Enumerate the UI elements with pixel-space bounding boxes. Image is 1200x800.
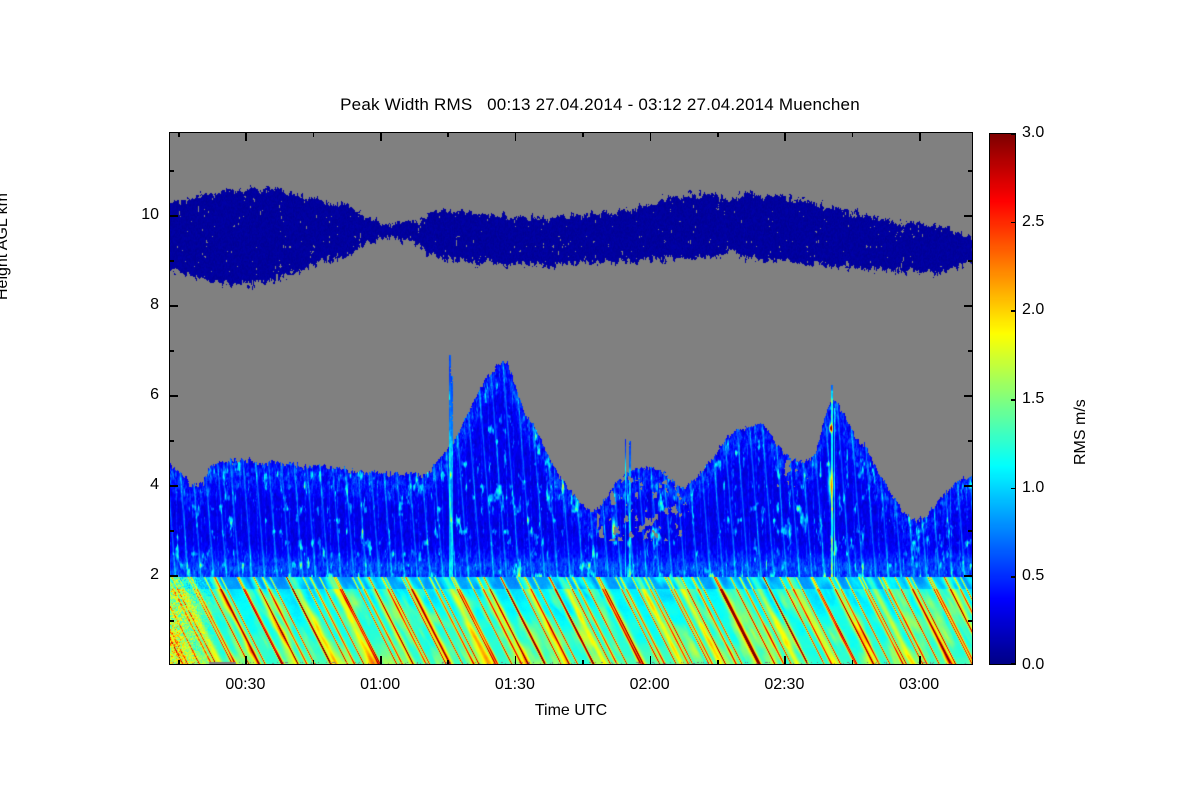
y-tick-label: 10 (119, 206, 159, 224)
x-minor-tick-bottom (582, 660, 584, 665)
y-minor-tick-right (968, 170, 973, 172)
x-minor-tick-bottom (852, 660, 854, 665)
x-minor-tick-bottom (313, 660, 315, 665)
x-minor-tick-top (717, 132, 719, 137)
colorbar-tick-label: 2.5 (1022, 213, 1044, 231)
y-minor-tick-left (169, 350, 174, 352)
y-tick-8 (169, 305, 178, 307)
x-tick-label: 01:30 (475, 676, 555, 694)
colorbar-tick (1011, 488, 1016, 490)
heatmap-canvas (170, 133, 973, 665)
x-minor-tick-top (178, 132, 180, 137)
colorbar-tick (1011, 222, 1016, 224)
colorbar-tick (1011, 133, 1016, 135)
colorbar-tick (1011, 310, 1016, 312)
x-minor-tick-top (582, 132, 584, 137)
y-tick-label: 6 (119, 386, 159, 404)
x-tick-label: 01:00 (340, 676, 420, 694)
x-tick-01:00 (380, 656, 382, 665)
y-tick-right-10 (964, 215, 973, 217)
x-axis-title: Time UTC (169, 702, 973, 720)
y-minor-tick-left (169, 260, 174, 262)
x-tick-top-00:30 (245, 132, 247, 141)
page-title: Peak Width RMS 00:13 27.04.2014 - 03:12 … (0, 95, 1200, 115)
y-tick-label: 8 (119, 296, 159, 314)
x-tick-top-02:30 (784, 132, 786, 141)
y-tick-4 (169, 485, 178, 487)
y-minor-tick-right (968, 350, 973, 352)
x-minor-tick-top (852, 132, 854, 137)
x-minor-tick-top (313, 132, 315, 137)
y-tick-right-2 (964, 575, 973, 577)
colorbar-tick (1011, 663, 1016, 665)
y-tick-10 (169, 215, 178, 217)
x-minor-tick-bottom (717, 660, 719, 665)
y-tick-2 (169, 575, 178, 577)
y-minor-tick-left (169, 440, 174, 442)
x-minor-tick-bottom (447, 660, 449, 665)
y-minor-tick-right (968, 620, 973, 622)
x-tick-00:30 (245, 656, 247, 665)
x-minor-tick-bottom (178, 660, 180, 665)
x-tick-02:00 (650, 656, 652, 665)
colorbar-tick-label: 0.0 (1022, 656, 1044, 674)
colorbar-tick (1011, 399, 1016, 401)
x-tick-label: 02:30 (744, 676, 824, 694)
y-minor-tick-right (968, 260, 973, 262)
x-tick-top-02:00 (650, 132, 652, 141)
y-tick-right-8 (964, 305, 973, 307)
x-tick-top-01:30 (515, 132, 517, 141)
y-minor-tick-left (169, 620, 174, 622)
lidar-rms-figure: Peak Width RMS 00:13 27.04.2014 - 03:12 … (0, 0, 1200, 800)
colorbar-tick-label: 1.0 (1022, 479, 1044, 497)
heatmap-plot-area[interactable] (169, 132, 973, 665)
y-tick-right-6 (964, 395, 973, 397)
colorbar-tick-label: 1.5 (1022, 390, 1044, 408)
y-minor-tick-left (169, 170, 174, 172)
x-tick-top-01:00 (380, 132, 382, 141)
y-minor-tick-right (968, 530, 973, 532)
x-tick-02:30 (784, 656, 786, 665)
x-tick-01:30 (515, 656, 517, 665)
colorbar-tick-label: 3.0 (1022, 124, 1044, 142)
y-axis-title: Height AGL km (0, 193, 12, 300)
y-tick-label: 4 (119, 476, 159, 494)
y-minor-tick-left (169, 530, 174, 532)
x-minor-tick-top (447, 132, 449, 137)
colorbar-tick (1011, 576, 1016, 578)
x-tick-label: 03:00 (879, 676, 959, 694)
y-minor-tick-right (968, 440, 973, 442)
colorbar-tick-label: 2.0 (1022, 301, 1044, 319)
x-tick-label: 02:00 (610, 676, 690, 694)
y-tick-6 (169, 395, 178, 397)
x-tick-top-03:00 (919, 132, 921, 141)
colorbar-tick-label: 0.5 (1022, 567, 1044, 585)
y-tick-label: 2 (119, 566, 159, 584)
y-tick-right-4 (964, 485, 973, 487)
x-tick-label: 00:30 (205, 676, 285, 694)
colorbar-title: RMS m/s (1072, 399, 1090, 465)
x-tick-03:00 (919, 656, 921, 665)
